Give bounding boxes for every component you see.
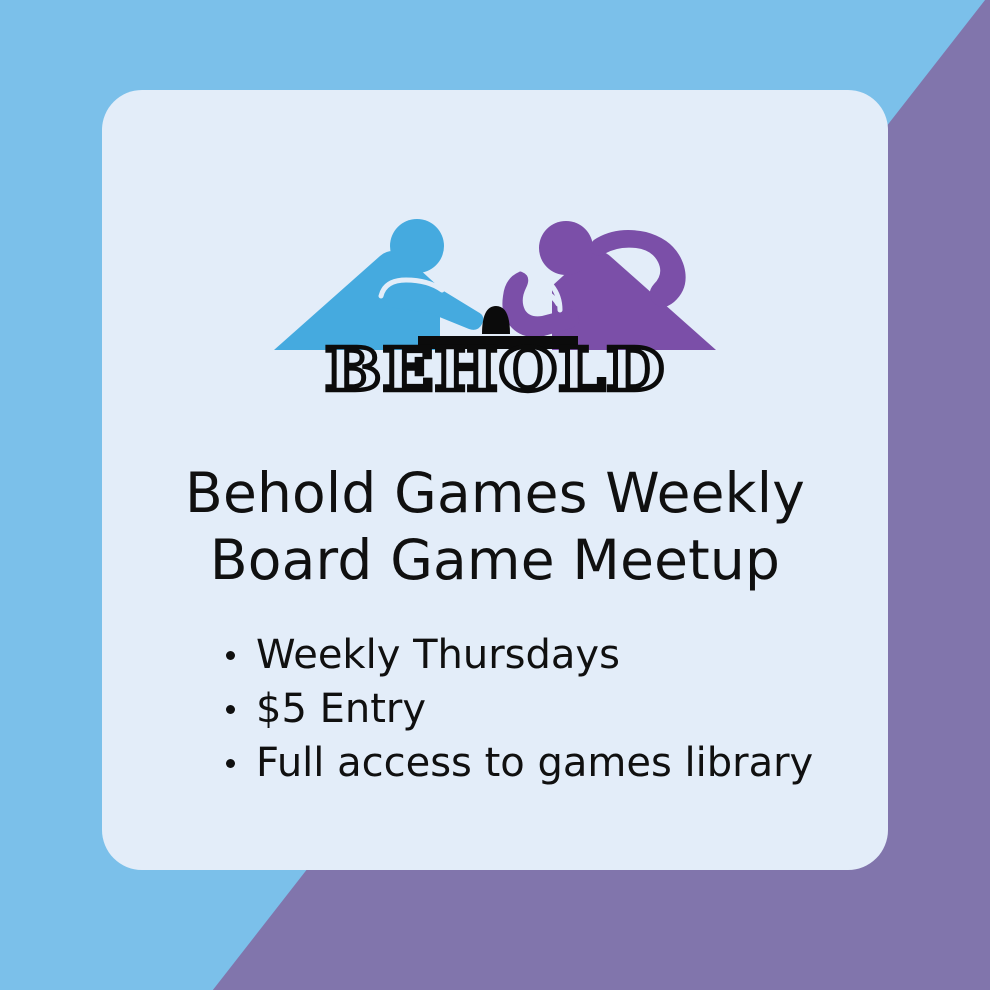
behold-logo: BEHOLD <box>260 218 730 408</box>
list-item: Full access to games library <box>220 736 813 790</box>
poster-canvas: BEHOLD Behold Games Weekly Board Game Me… <box>0 0 990 990</box>
headline-line-1: Behold Games Weekly <box>185 460 805 527</box>
list-item: $5 Entry <box>220 682 813 736</box>
player-left-blue <box>274 219 483 350</box>
list-item-label: $5 Entry <box>256 686 426 732</box>
bullet-dot-icon <box>226 705 235 714</box>
headline-line-2: Board Game Meetup <box>185 527 805 594</box>
page-title: Behold Games Weekly Board Game Meetup <box>185 460 805 594</box>
list-item: Weekly Thursdays <box>220 628 813 682</box>
list-item-label: Weekly Thursdays <box>256 632 620 678</box>
players-table-icon <box>260 218 730 353</box>
bullet-dot-icon <box>226 651 235 660</box>
content-card: BEHOLD Behold Games Weekly Board Game Me… <box>102 90 888 870</box>
behold-wordmark: BEHOLD <box>260 340 730 399</box>
list-item-label: Full access to games library <box>256 740 813 786</box>
details-list: Weekly Thursdays $5 Entry Full access to… <box>220 628 813 790</box>
player-right-purple <box>502 221 716 350</box>
bullet-dot-icon <box>226 759 235 768</box>
